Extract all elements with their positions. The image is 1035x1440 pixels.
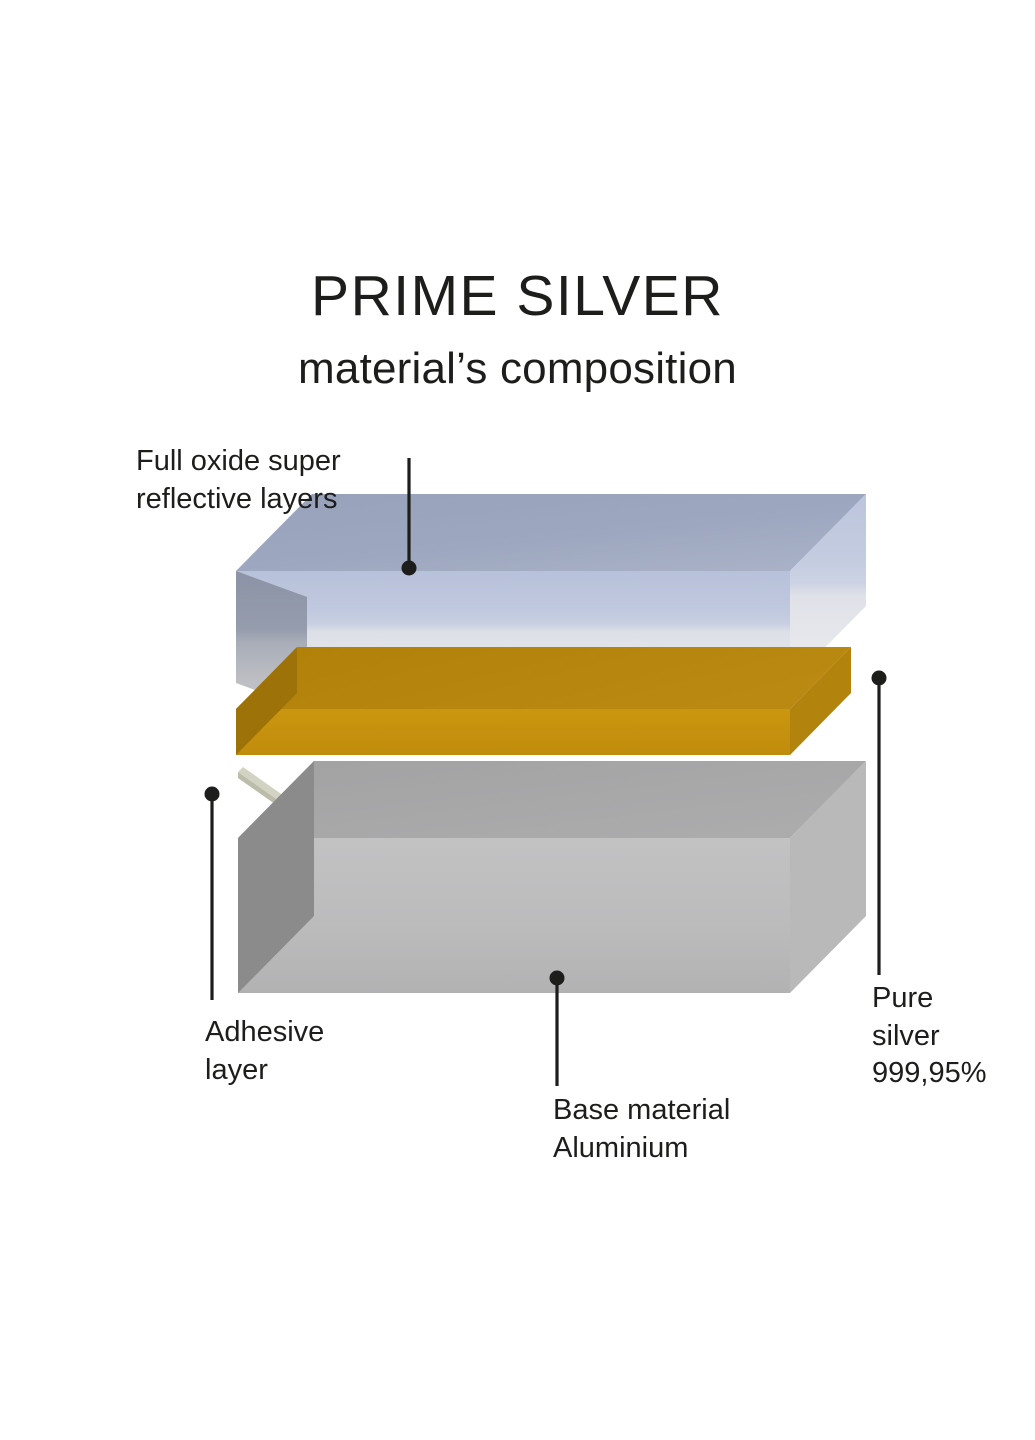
page-subtitle: material’s composition [0, 325, 1035, 391]
pure-silver-leader-dot [872, 671, 887, 686]
callout-label-adhesive: Adhesive layer [205, 1014, 455, 1089]
silver-top-face [236, 647, 851, 709]
adhesive-top-face [238, 767, 318, 825]
oxide-leader-dot [402, 561, 417, 576]
header: PRIME SILVER material’s composition [0, 268, 1035, 391]
leader-lines-group [205, 458, 887, 1086]
silver-right-face [790, 647, 851, 755]
silver-front-face [236, 709, 790, 755]
adhesive-front-face [238, 772, 313, 831]
layer-stack-illustration [0, 0, 1035, 1440]
page-title: PRIME SILVER [0, 268, 1035, 325]
callout-label-pure-silver: Pure silver 999,95% [872, 980, 1035, 1093]
adhesive-layer-sliver [238, 767, 318, 831]
aluminium-top-face [238, 761, 866, 838]
pure-silver-layer-block [236, 647, 851, 755]
silver-left-face [236, 647, 297, 755]
callout-label-base-material: Base material Aluminium [553, 1092, 853, 1167]
callout-label-oxide: Full oxide super reflective layers [136, 443, 436, 518]
oxide-left-face [236, 571, 307, 709]
aluminium-right-face [790, 761, 866, 993]
oxide-right-face [790, 494, 866, 683]
oxide-layer-block [236, 494, 866, 709]
diagram-canvas: PRIME SILVER material’s composition Full… [0, 0, 1035, 1440]
aluminium-base-block [238, 761, 866, 993]
aluminium-left-face [238, 761, 314, 993]
oxide-front-face [236, 571, 790, 683]
base-material-leader-dot [550, 971, 565, 986]
adhesive-leader-dot [205, 787, 220, 802]
aluminium-front-face [238, 838, 790, 993]
